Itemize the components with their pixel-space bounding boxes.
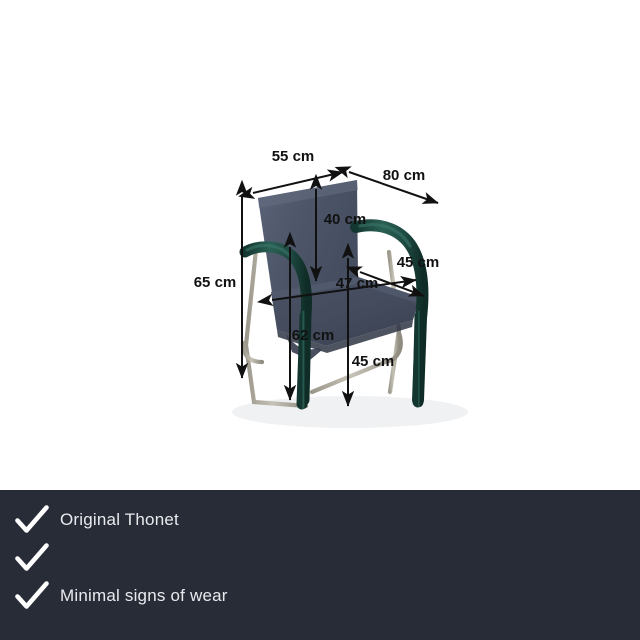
feature-label: Minimal signs of wear (60, 586, 228, 606)
chair-dimension-svg: 55 cm 80 cm 40 cm 45 cm (0, 0, 640, 490)
feature-row: Minimal signs of wear (0, 577, 640, 615)
check-icon (0, 581, 60, 611)
feature-row (0, 539, 640, 577)
chair-leg-front-right (418, 316, 420, 402)
check-icon (0, 505, 60, 535)
product-image-card: 55 cm 80 cm 40 cm 45 cm (0, 0, 640, 640)
dimension-label-seat-depth: 45 cm (397, 254, 440, 271)
feature-banner: Original Thonet Minimal signs of wear (0, 490, 640, 640)
feature-label: Original Thonet (60, 510, 179, 530)
dimension-label-back-height: 40 cm (324, 211, 367, 228)
dimension-label-seat-width: 47 cm (336, 275, 379, 292)
dimension-depth-top: 80 cm (349, 167, 438, 203)
dimension-label-width-top: 55 cm (272, 148, 315, 165)
dimension-total-height: 65 cm (194, 195, 242, 378)
dimension-label-depth-top: 80 cm (383, 167, 426, 184)
dimension-label-seat-height: 45 cm (352, 353, 395, 370)
feature-row: Original Thonet (0, 501, 640, 539)
dimension-label-arm-height: 62 cm (292, 327, 335, 344)
floor-shadow (232, 396, 468, 428)
dimension-diagram: 55 cm 80 cm 40 cm 45 cm (0, 0, 640, 490)
product-photo-area: 55 cm 80 cm 40 cm 45 cm (0, 0, 640, 490)
dimension-label-total-height: 65 cm (194, 274, 237, 291)
check-icon (0, 543, 60, 573)
